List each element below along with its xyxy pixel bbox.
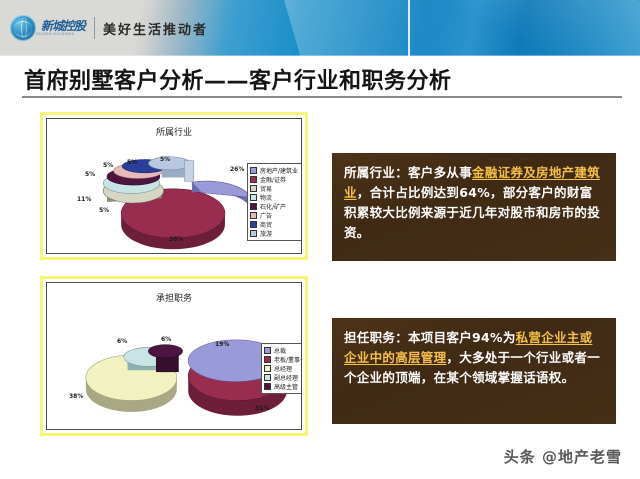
legend-label: 副总经理: [274, 373, 298, 382]
legend-swatch-icon: [250, 212, 257, 219]
legend-label: 老板/董事长: [274, 355, 302, 364]
legend-item[interactable]: 商贸: [250, 220, 298, 229]
legend-label: 商贸: [260, 220, 272, 229]
pie-label-industry-7: 5%: [160, 156, 170, 163]
callout-textbox-industry: 所属行业：客户多从事金融证券及房地产建筑业，合计占比例达到64%，部分客户的财富…: [332, 153, 616, 261]
legend-label: 物流: [260, 193, 272, 202]
pie-label-industry-3: 11%: [77, 196, 91, 203]
legend-label: 总经理: [274, 364, 292, 373]
chart-legend-industry: 房地产/建筑业 金融/证券 贸易 物流 石化/矿产 广告: [247, 163, 302, 241]
legend-label: 石化/矿产: [260, 202, 286, 211]
chart-panel-industry: 所属行业 26% 38% 5% 11% 5% 5% 5% 5%: [40, 112, 308, 260]
header-vertical-divider: [408, 0, 410, 56]
pie-label-industry-0: 26%: [230, 166, 244, 173]
chart-frame-position: 承担职务 19% 31% 38% 6% 6% 总裁 老板/董: [46, 282, 302, 430]
legend-label: 广告: [260, 211, 272, 220]
logo-chinese-name: 新城控股: [41, 20, 85, 32]
globe-icon: [10, 15, 36, 41]
legend-item[interactable]: 老板/董事长: [264, 355, 302, 364]
chart-legend-position: 总裁 老板/董事长 总经理 副总经理 高级主管: [261, 343, 302, 394]
header-bottom-line: [0, 55, 640, 56]
pie-label-position-2: 38%: [69, 393, 83, 400]
legend-item[interactable]: 物流: [250, 193, 298, 202]
legend-item[interactable]: 高级主管: [264, 382, 302, 391]
page-title: 首府别墅客户分析——客户行业和职务分析: [24, 63, 452, 95]
legend-swatch-icon: [250, 230, 257, 237]
legend-item[interactable]: 金融/证券: [250, 175, 298, 184]
legend-swatch-icon: [250, 176, 257, 183]
pie-label-industry-1: 38%: [169, 236, 183, 243]
title-underline-rule: [22, 96, 622, 98]
legend-swatch-icon: [250, 194, 257, 201]
pie-label-position-0: 19%: [215, 341, 229, 348]
logo-separator: [94, 17, 95, 39]
legend-item[interactable]: 广告: [250, 211, 298, 220]
legend-swatch-icon: [264, 374, 271, 381]
callout-lead-text: 所属行业：客户多从事: [344, 165, 472, 180]
legend-swatch-icon: [264, 356, 271, 363]
legend-item[interactable]: 房地产/建筑业: [250, 166, 298, 175]
callout-textbox-position: 担任职务：本项目客户94%为私营企业主或企业中的高层管理，大多处于一个行业或者一…: [332, 318, 616, 424]
legend-label: 贸易: [260, 184, 272, 193]
legend-label: 金融/证券: [260, 175, 286, 184]
legend-swatch-icon: [264, 347, 271, 354]
pie-label-position-4: 6%: [161, 336, 171, 343]
legend-item[interactable]: 副总经理: [264, 373, 302, 382]
legend-swatch-icon: [250, 167, 257, 174]
pie-label-position-3: 6%: [117, 338, 127, 345]
legend-item[interactable]: 石化/矿产: [250, 202, 298, 211]
pie-label-industry-5: 5%: [103, 162, 113, 169]
chart-frame-industry: 所属行业 26% 38% 5% 11% 5% 5% 5% 5%: [46, 118, 302, 254]
legend-label: 总裁: [274, 346, 286, 355]
slide-header-banner: 新城控股 SEAZEN HOLDINGS 美好生活推动者: [0, 0, 640, 56]
legend-label: 高级主管: [274, 382, 298, 391]
chart-panel-position: 承担职务 19% 31% 38% 6% 6% 总裁 老板/董: [40, 276, 308, 436]
legend-item[interactable]: 旅游: [250, 229, 298, 238]
pie-label-industry-4: 5%: [85, 171, 95, 178]
legend-label: 旅游: [260, 229, 272, 238]
pie-label-industry-2: 5%: [99, 207, 109, 214]
logo-wordmark: 新城控股 SEAZEN HOLDINGS: [36, 20, 85, 37]
legend-swatch-icon: [250, 203, 257, 210]
pie-label-industry-6: 5%: [127, 159, 137, 166]
legend-item[interactable]: 总经理: [264, 364, 302, 373]
legend-swatch-icon: [264, 365, 271, 372]
callout-body-text: ，合计占比例达到64%，部分客户的财富积累较大比例来源于近几年对股市和房市的投资…: [344, 185, 600, 240]
pie-label-position-1: 31%: [255, 405, 269, 412]
legend-swatch-icon: [250, 221, 257, 228]
watermark-text: 头条 @地产老雪: [504, 446, 622, 467]
company-slogan: 美好生活推动者: [103, 19, 208, 38]
header-sheen-decoration-2: [423, 0, 640, 56]
callout-lead-text: 担任职务：本项目客户94%为: [344, 330, 516, 345]
legend-item[interactable]: 总裁: [264, 346, 302, 355]
legend-swatch-icon: [250, 185, 257, 192]
legend-label: 房地产/建筑业: [260, 166, 298, 175]
legend-item[interactable]: 贸易: [250, 184, 298, 193]
legend-swatch-icon: [264, 383, 271, 390]
company-logo: 新城控股 SEAZEN HOLDINGS 美好生活推动者: [10, 13, 208, 43]
